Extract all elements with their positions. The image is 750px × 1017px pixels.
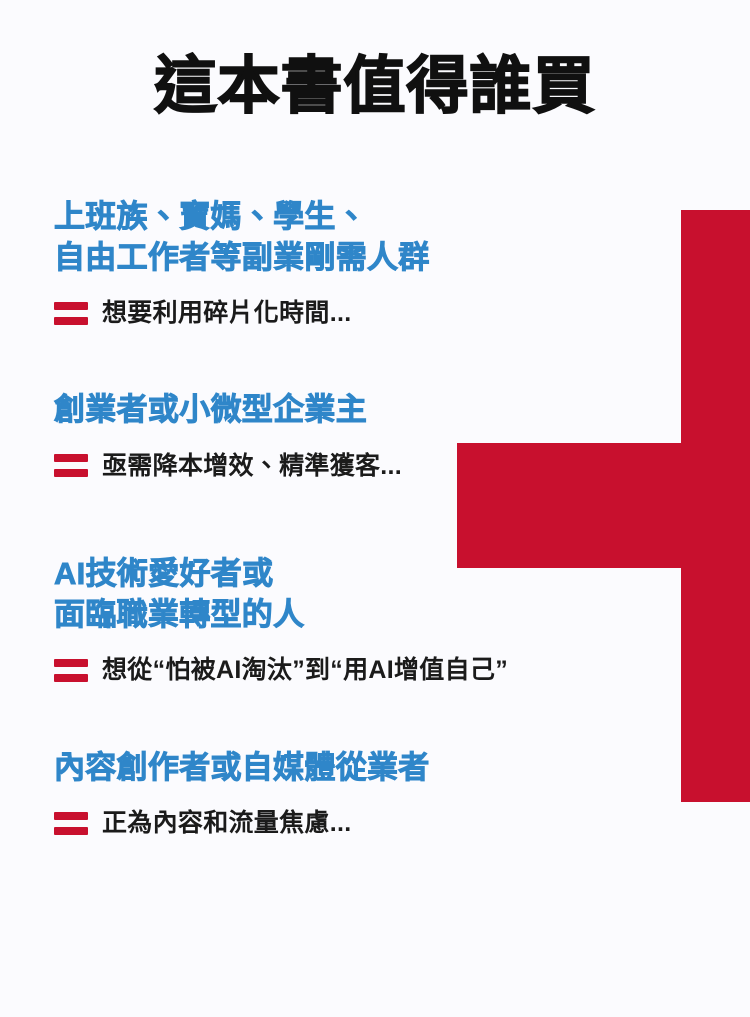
double-bar-icon bbox=[54, 659, 88, 682]
page-title: 這本書值得誰買 bbox=[0, 0, 750, 121]
double-bar-icon-top bbox=[54, 454, 88, 462]
audience-bullet-row-3: 想從“怕被AI淘汰”到“用AI增值自己” bbox=[54, 655, 730, 685]
audience-heading-4: 內容創作者或自媒體從業者 bbox=[54, 747, 730, 788]
double-bar-icon-bottom bbox=[54, 469, 88, 477]
audience-section-4: 內容創作者或自媒體從業者 正為內容和流量焦慮... bbox=[0, 747, 750, 838]
audience-list: 上班族、寶媽、學生、 自由工作者等副業剛需人群 想要利用碎片化時間... 創業者… bbox=[0, 196, 750, 838]
double-bar-icon bbox=[54, 302, 88, 325]
double-bar-icon-bottom bbox=[54, 317, 88, 325]
audience-section-1: 上班族、寶媽、學生、 自由工作者等副業剛需人群 想要利用碎片化時間... bbox=[0, 196, 750, 328]
double-bar-icon-top bbox=[54, 659, 88, 667]
section-spacer bbox=[0, 685, 750, 747]
double-bar-icon-top bbox=[54, 812, 88, 820]
poster-root: 這本書值得誰買 上班族、寶媽、學生、 自由工作者等副業剛需人群 想要利用碎片化時… bbox=[0, 0, 750, 1017]
audience-bullet-text-3: 想從“怕被AI淘汰”到“用AI增值自己” bbox=[102, 655, 508, 685]
audience-bullet-text-1: 想要利用碎片化時間... bbox=[102, 298, 351, 328]
audience-bullet-text-2: 亟需降本增效、精準獲客... bbox=[102, 451, 402, 481]
audience-heading-1: 上班族、寶媽、學生、 自由工作者等副業剛需人群 bbox=[54, 196, 730, 278]
audience-section-3: AI技術愛好者或 面臨職業轉型的人 想從“怕被AI淘汰”到“用AI增值自己” bbox=[0, 553, 750, 685]
section-spacer bbox=[0, 328, 750, 389]
double-bar-icon-bottom bbox=[54, 827, 88, 835]
audience-bullet-row-4: 正為內容和流量焦慮... bbox=[54, 808, 730, 838]
section-spacer bbox=[0, 481, 750, 553]
audience-bullet-row-2: 亟需降本增效、精準獲客... bbox=[54, 451, 730, 481]
double-bar-icon bbox=[54, 454, 88, 477]
double-bar-icon-top bbox=[54, 302, 88, 310]
double-bar-icon-bottom bbox=[54, 674, 88, 682]
audience-bullet-row-1: 想要利用碎片化時間... bbox=[54, 298, 730, 328]
audience-bullet-text-4: 正為內容和流量焦慮... bbox=[102, 808, 351, 838]
audience-heading-2: 創業者或小微型企業主 bbox=[54, 389, 730, 430]
audience-heading-3: AI技術愛好者或 面臨職業轉型的人 bbox=[54, 553, 730, 635]
audience-section-2: 創業者或小微型企業主 亟需降本增效、精準獲客... bbox=[0, 389, 750, 480]
page-title-text: 這本書值得誰買 bbox=[154, 52, 595, 121]
double-bar-icon bbox=[54, 812, 88, 835]
